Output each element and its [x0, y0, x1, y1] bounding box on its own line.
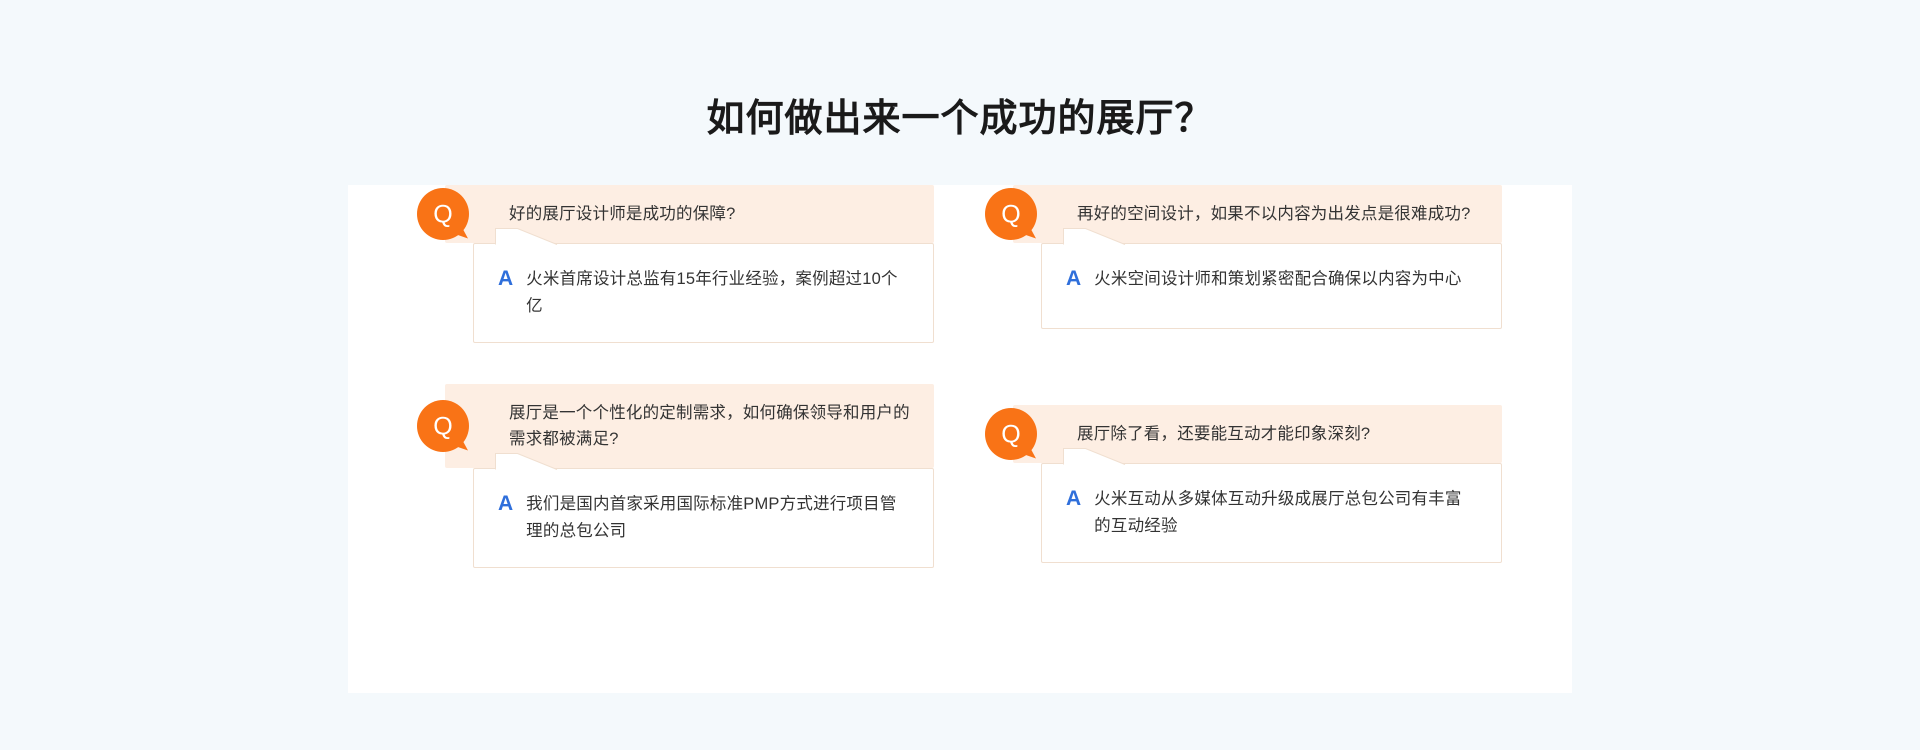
- answer-text: 火米互动从多媒体互动升级成展厅总包公司有丰富的互动经验: [1094, 486, 1477, 540]
- question-badge-icon: Q: [985, 188, 1037, 240]
- answer-text: 火米空间设计师和策划紧密配合确保以内容为中心: [1094, 266, 1461, 293]
- answer-wrapper: A 我们是国内首家采用国际标准PMP方式进行项目管理的总包公司: [473, 468, 934, 568]
- question-badge-icon: Q: [417, 188, 469, 240]
- question-text: 好的展厅设计师是成功的保障?: [509, 201, 735, 227]
- answer-marker: A: [1066, 266, 1081, 292]
- answer-connector-notch-icon: [495, 228, 575, 245]
- answer-wrapper: A 火米首席设计总监有15年行业经验，案例超过10个亿: [473, 243, 934, 343]
- question-badge-icon: Q: [417, 400, 469, 452]
- faq-item: Q 再好的空间设计，如果不以内容为出发点是很难成功? A 火米空间: [985, 185, 1502, 329]
- question-badge-icon: Q: [985, 408, 1037, 460]
- question-text: 展厅是一个个性化的定制需求，如何确保领导和用户的需求都被满足?: [509, 400, 912, 452]
- faq-item: Q 展厅除了看，还要能互动才能印象深刻? A 火米互动从多媒体互动: [985, 405, 1502, 563]
- answer-wrapper: A 火米空间设计师和策划紧密配合确保以内容为中心: [1041, 243, 1502, 329]
- answer-marker: A: [1066, 486, 1081, 512]
- svg-text:Q: Q: [1001, 421, 1020, 449]
- answer-text: 火米首席设计总监有15年行业经验，案例超过10个亿: [526, 266, 909, 320]
- answer-wrapper: A 火米互动从多媒体互动升级成展厅总包公司有丰富的互动经验: [1041, 463, 1502, 563]
- answer-card[interactable]: A 火米首席设计总监有15年行业经验，案例超过10个亿: [473, 243, 934, 343]
- answer-connector-notch-icon: [1063, 228, 1143, 245]
- answer-text: 我们是国内首家采用国际标准PMP方式进行项目管理的总包公司: [526, 491, 909, 545]
- answer-connector-notch-icon: [495, 453, 575, 470]
- svg-text:Q: Q: [433, 413, 452, 441]
- faq-columns: Q 好的展厅设计师是成功的保障? A: [348, 185, 1572, 693]
- faq-item: Q 好的展厅设计师是成功的保障? A: [417, 185, 934, 343]
- faq-item: Q 展厅是一个个性化的定制需求，如何确保领导和用户的需求都被满足? A: [417, 384, 934, 568]
- answer-connector-notch-icon: [1063, 448, 1143, 465]
- question-text: 展厅除了看，还要能互动才能印象深刻?: [1077, 421, 1370, 447]
- svg-text:Q: Q: [1001, 201, 1020, 229]
- answer-card[interactable]: A 火米空间设计师和策划紧密配合确保以内容为中心: [1041, 243, 1502, 329]
- answer-marker: A: [498, 266, 513, 292]
- question-text: 再好的空间设计，如果不以内容为出发点是很难成功?: [1077, 201, 1470, 227]
- page-title: 如何做出来一个成功的展厅？: [0, 93, 1920, 145]
- answer-card[interactable]: A 我们是国内首家采用国际标准PMP方式进行项目管理的总包公司: [473, 468, 934, 568]
- answer-card[interactable]: A 火米互动从多媒体互动升级成展厅总包公司有丰富的互动经验: [1041, 463, 1502, 563]
- answer-marker: A: [498, 491, 513, 517]
- svg-text:Q: Q: [433, 201, 452, 229]
- faq-panel: Q 好的展厅设计师是成功的保障? A: [348, 185, 1572, 693]
